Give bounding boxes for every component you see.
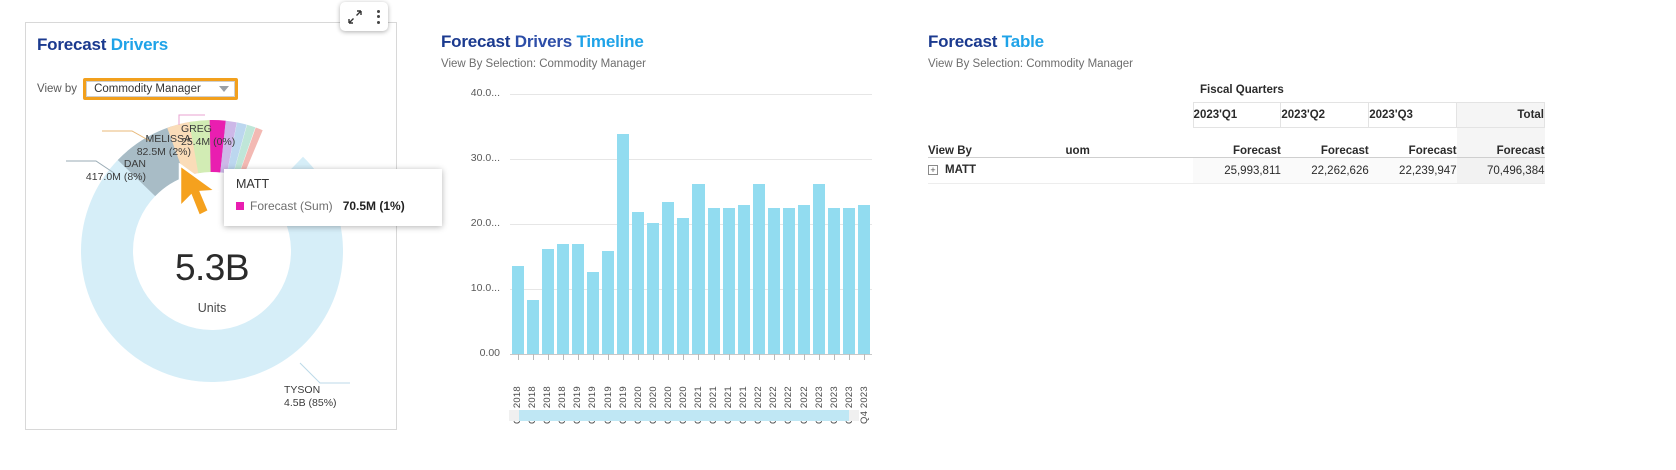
quarter-header-2023-q1[interactable]: 2023'Q1	[1193, 103, 1281, 128]
row-uom-cell	[1066, 158, 1194, 184]
fiscal-quarters-caption: Fiscal Quarters	[1200, 84, 1284, 96]
bar[interactable]	[512, 266, 524, 354]
x-axis-tick	[827, 354, 842, 360]
bar-cell[interactable]	[555, 94, 570, 354]
measure-header-row: View By uom ForecastForecastForecastFore…	[928, 128, 1545, 158]
view-by-selected-value: Commodity Manager	[94, 83, 201, 95]
bar[interactable]	[723, 208, 735, 354]
mouse-cursor-arrow-icon	[174, 163, 222, 221]
donut-label-dan: DAN 417.0M (8%)	[36, 158, 146, 183]
kebab-menu-icon[interactable]	[377, 10, 380, 24]
bar-cell[interactable]	[766, 94, 781, 354]
bar[interactable]	[783, 208, 795, 354]
bar-cell[interactable]	[857, 94, 872, 354]
bar[interactable]	[662, 202, 674, 354]
chevron-down-icon	[219, 86, 229, 92]
timeline-bar-chart[interactable]: 40.0...30.0...20.0...10.0...0.00	[510, 94, 872, 354]
bar[interactable]	[557, 244, 569, 354]
bar[interactable]	[692, 184, 704, 354]
timeline-panel-title: Forecast Drivers Timeline	[441, 32, 871, 52]
table-row[interactable]: +MATT25,993,81122,262,62622,239,94770,49…	[928, 158, 1545, 184]
x-axis-tick	[661, 354, 676, 360]
quarter-header-2023-q2[interactable]: 2023'Q2	[1281, 103, 1369, 128]
x-axis-tick	[570, 354, 585, 360]
x-axis-tick-label: Q4 2023	[859, 362, 870, 424]
row-value-cell: 22,239,947	[1369, 158, 1457, 184]
x-axis-tick	[510, 354, 525, 360]
quarter-header-total[interactable]: Total	[1457, 103, 1545, 128]
bar[interactable]	[738, 205, 750, 354]
bar[interactable]	[617, 134, 629, 354]
donut-center-unit: Units	[26, 301, 398, 315]
row-value-cell: 25,993,811	[1193, 158, 1281, 184]
drivers-panel-header: Forecast Drivers	[37, 35, 168, 55]
donut-label-tyson: TYSON 4.5B (85%)	[284, 384, 337, 409]
y-axis-tick-label: 20.0...	[440, 217, 500, 229]
view-by-label: View by	[37, 83, 77, 95]
bar-cell[interactable]	[525, 94, 540, 354]
donut-label-tyson-value: 4.5B (85%)	[284, 397, 337, 409]
donut-label-tyson-name: TYSON	[284, 384, 320, 396]
bar-cell[interactable]	[570, 94, 585, 354]
x-axis-tick	[706, 354, 721, 360]
bar[interactable]	[798, 205, 810, 354]
x-axis-tick	[736, 354, 751, 360]
drivers-panel-title: Forecast Drivers	[37, 35, 168, 55]
donut-label-dan-name: DAN	[124, 158, 146, 170]
plus-box-icon[interactable]: +	[928, 165, 938, 175]
bar[interactable]	[632, 212, 644, 354]
tooltip-series-label: Forecast (Sum)	[250, 199, 333, 213]
measure-header-forecast[interactable]: Forecast	[1193, 128, 1281, 158]
x-axis-tick	[766, 354, 781, 360]
bar[interactable]	[858, 205, 870, 354]
x-axis-tick	[781, 354, 796, 360]
donut-chart[interactable]: 5.3B Units GREG 25.4M (0%) MELISSA 82.5M…	[26, 101, 398, 431]
bar-cell[interactable]	[661, 94, 676, 354]
view-by-dropdown[interactable]: Commodity Manager	[83, 78, 238, 100]
forecast-data-table: 2023'Q12023'Q22023'Q3Total View By uom F…	[928, 102, 1545, 184]
y-axis-tick-label: 10.0...	[440, 282, 500, 294]
bar-cell[interactable]	[616, 94, 631, 354]
x-axis-tick	[691, 354, 706, 360]
x-axis-tick	[857, 354, 872, 360]
x-axis-tick	[585, 354, 600, 360]
bar[interactable]	[602, 251, 614, 354]
donut-label-melissa-name: MELISSA	[145, 133, 191, 145]
x-axis-tick	[600, 354, 615, 360]
x-axis-tick	[676, 354, 691, 360]
donut-tooltip: MATT Forecast (Sum) 70.5M (1%)	[224, 169, 442, 226]
tooltip-series-value: 70.5M (1%)	[343, 199, 405, 213]
table-view-by-selection: View By Selection: Commodity Manager	[928, 58, 1658, 70]
table-panel-title: Forecast Table	[928, 32, 1658, 52]
expand-arrows-icon[interactable]	[348, 10, 362, 24]
header-spacer-2	[1066, 103, 1194, 128]
bar-series[interactable]	[510, 94, 872, 354]
quarter-header-2023-q3[interactable]: 2023'Q3	[1369, 103, 1457, 128]
tooltip-color-swatch	[236, 202, 244, 210]
view-by-row: View by Commodity Manager	[37, 78, 238, 100]
forecast-table-panel: Forecast Table View By Selection: Commod…	[928, 32, 1658, 432]
title-word-forecast: Forecast	[441, 32, 510, 51]
bar-cell[interactable]	[646, 94, 661, 354]
bar-cell[interactable]	[736, 94, 751, 354]
bar[interactable]	[753, 184, 765, 354]
bar[interactable]	[542, 249, 554, 354]
bar-cell[interactable]	[842, 94, 857, 354]
x-axis-tick	[796, 354, 811, 360]
bar-cell[interactable]	[691, 94, 706, 354]
x-axis-tick	[616, 354, 631, 360]
title-word-timeline: Timeline	[577, 32, 644, 51]
bar-cell[interactable]	[600, 94, 615, 354]
x-axis-tick	[751, 354, 766, 360]
bar[interactable]	[677, 218, 689, 354]
bar-cell[interactable]	[540, 94, 555, 354]
bar[interactable]	[572, 244, 584, 355]
y-axis-tick-label: 0.00	[440, 347, 500, 359]
x-axis-tick	[555, 354, 570, 360]
row-total-cell: 70,496,384	[1457, 158, 1545, 184]
tooltip-title: MATT	[236, 177, 432, 191]
x-axis-tick	[525, 354, 540, 360]
scrollbar-thumb[interactable]	[519, 410, 849, 421]
horizontal-scrollbar[interactable]	[509, 410, 859, 421]
x-axis-tick	[646, 354, 661, 360]
bar-cell[interactable]	[510, 94, 525, 354]
donut-label-dan-value: 417.0M (8%)	[86, 171, 146, 183]
y-axis-tick-label: 40.0...	[440, 87, 500, 99]
x-axis-ticks	[510, 354, 872, 360]
bar-cell[interactable]	[781, 94, 796, 354]
measure-header-forecast[interactable]: Forecast	[1457, 128, 1545, 158]
forecast-drivers-timeline-panel: Forecast Drivers Timeline View By Select…	[441, 32, 871, 432]
donut-label-melissa-value: 82.5M (2%)	[137, 146, 191, 158]
x-axis-tick	[842, 354, 857, 360]
header-uom[interactable]: uom	[1066, 128, 1194, 158]
title-word-drivers: Drivers	[111, 35, 168, 54]
x-axis-tick	[631, 354, 646, 360]
forecast-drivers-panel: Forecast Drivers View by Commodity Manag…	[25, 22, 397, 430]
bar[interactable]	[708, 208, 720, 354]
bar[interactable]	[587, 272, 599, 354]
title-word-table: Table	[1002, 32, 1044, 51]
panel-toolbar[interactable]	[340, 2, 388, 31]
header-view-by[interactable]: View By	[928, 128, 1066, 158]
timeline-view-by-selection: View By Selection: Commodity Manager	[441, 58, 871, 70]
donut-center-value: 5.3B	[26, 247, 398, 289]
row-name-cell[interactable]: +MATT	[928, 158, 1066, 184]
table-body: +MATT25,993,81122,262,62622,239,94770,49…	[928, 158, 1545, 184]
bar-cell[interactable]	[827, 94, 842, 354]
bar[interactable]	[843, 208, 855, 354]
bar[interactable]	[647, 223, 659, 354]
title-word-drivers: Drivers	[515, 32, 572, 51]
bar[interactable]	[527, 300, 539, 354]
measure-header-forecast[interactable]: Forecast	[1369, 128, 1457, 158]
y-axis-tick-label: 30.0...	[440, 152, 500, 164]
measure-header-forecast[interactable]: Forecast	[1281, 128, 1369, 158]
bar-cell[interactable]	[706, 94, 721, 354]
bar-cell[interactable]	[676, 94, 691, 354]
x-axis-tick	[540, 354, 555, 360]
title-word-forecast: Forecast	[928, 32, 997, 51]
donut-label-melissa: MELISSA 82.5M (2%)	[86, 133, 191, 158]
bar-cell[interactable]	[812, 94, 827, 354]
row-name-label: MATT	[945, 164, 976, 176]
title-word-forecast: Forecast	[37, 35, 106, 54]
bar-cell[interactable]	[721, 94, 736, 354]
bar-cell[interactable]	[751, 94, 766, 354]
row-value-cell: 22,262,626	[1281, 158, 1369, 184]
bar-cell[interactable]	[796, 94, 811, 354]
bar-cell[interactable]	[585, 94, 600, 354]
bar[interactable]	[828, 208, 840, 354]
header-spacer-1	[928, 103, 1066, 128]
bar[interactable]	[768, 208, 780, 354]
quarter-header-row: 2023'Q12023'Q22023'Q3Total	[928, 103, 1545, 128]
tooltip-series-row: Forecast (Sum) 70.5M (1%)	[236, 199, 432, 213]
bar[interactable]	[813, 184, 825, 354]
bar-cell[interactable]	[631, 94, 646, 354]
x-axis-tick	[721, 354, 736, 360]
x-axis-tick	[812, 354, 827, 360]
